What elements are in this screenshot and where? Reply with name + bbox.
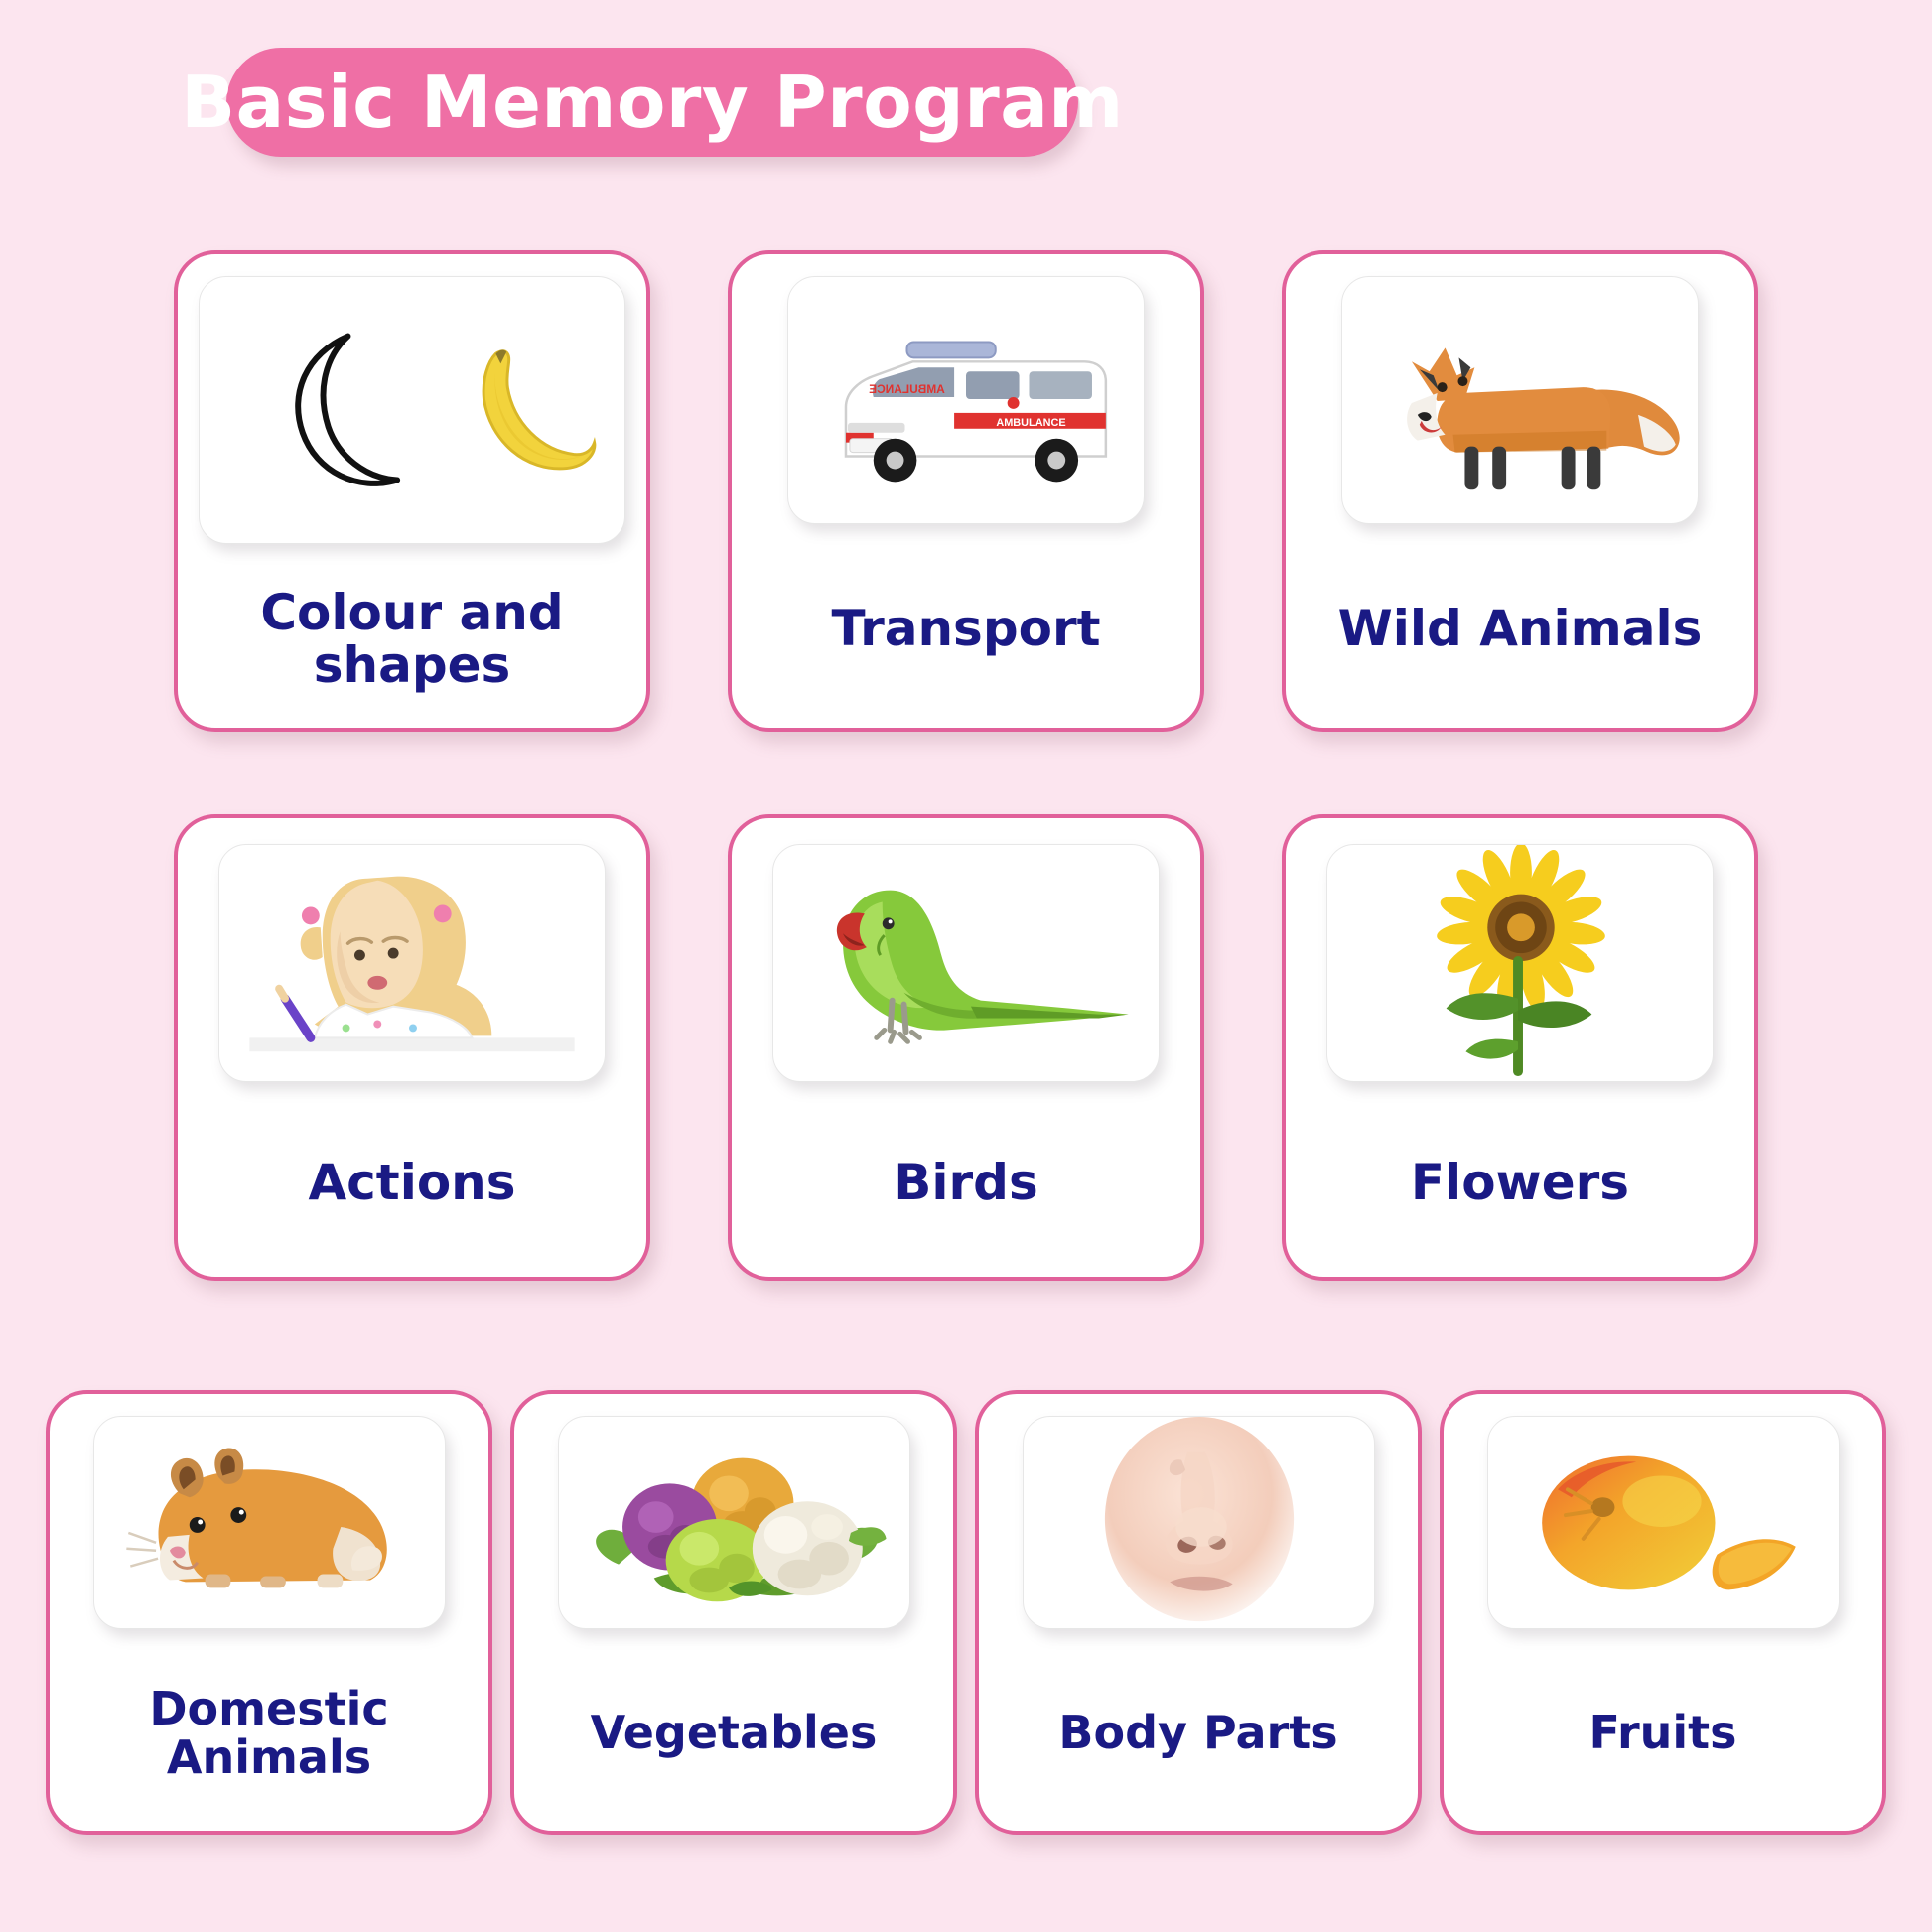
- cauliflower-icon: [559, 1417, 909, 1628]
- card-row-3: Domestic Animals: [0, 1390, 1932, 1835]
- card-label: Vegetables: [577, 1699, 892, 1761]
- thumbnail-colour-and-shapes: [199, 276, 625, 544]
- ambulance-icon: AMBULANCE AMBULANCE: [788, 277, 1144, 523]
- category-card-actions[interactable]: Actions: [174, 814, 650, 1281]
- thumbnail-birds: [772, 844, 1160, 1082]
- child-writing-icon: [219, 845, 605, 1081]
- page-title: Basic Memory Program: [181, 67, 1124, 138]
- svg-text:AMBULANCE: AMBULANCE: [869, 382, 945, 396]
- nose-icon: [1024, 1417, 1374, 1628]
- category-card-transport[interactable]: AMBULANCE AMBULANCE Transport: [728, 250, 1204, 732]
- parrot-icon: [773, 845, 1159, 1081]
- mango-icon: [1488, 1417, 1839, 1628]
- crescent-moon-and-banana-icon: [200, 277, 624, 543]
- card-label: Actions: [294, 1147, 529, 1213]
- thumbnail-flowers: [1326, 844, 1714, 1082]
- category-card-flowers[interactable]: Flowers: [1282, 814, 1758, 1281]
- thumbnail-actions: [218, 844, 606, 1082]
- hamster-icon: [94, 1417, 445, 1628]
- thumbnail-fruits: [1487, 1416, 1840, 1629]
- category-card-colour-and-shapes[interactable]: Colour and shapes: [174, 250, 650, 732]
- category-card-domestic-animals[interactable]: Domestic Animals: [46, 1390, 492, 1835]
- category-card-body-parts[interactable]: Body Parts: [975, 1390, 1422, 1835]
- title-banner: Basic Memory Program: [226, 48, 1078, 157]
- card-label: Domestic Animals: [50, 1675, 488, 1786]
- thumbnail-vegetables: [558, 1416, 910, 1629]
- svg-text:AMBULANCE: AMBULANCE: [996, 417, 1065, 429]
- category-card-vegetables[interactable]: Vegetables: [510, 1390, 957, 1835]
- card-label: Birds: [880, 1147, 1051, 1213]
- thumbnail-domestic-animals: [93, 1416, 446, 1629]
- card-label: Transport: [817, 593, 1114, 659]
- category-card-wild-animals[interactable]: Wild Animals: [1282, 250, 1758, 732]
- sunflower-icon: [1327, 845, 1713, 1081]
- fox-icon: [1342, 277, 1698, 523]
- thumbnail-wild-animals: [1341, 276, 1699, 524]
- thumbnail-transport: AMBULANCE AMBULANCE: [787, 276, 1145, 524]
- card-label: Flowers: [1397, 1147, 1643, 1213]
- category-card-fruits[interactable]: Fruits: [1440, 1390, 1886, 1835]
- category-card-birds[interactable]: Birds: [728, 814, 1204, 1281]
- card-label: Body Parts: [1044, 1699, 1351, 1761]
- card-label: Wild Animals: [1324, 593, 1717, 659]
- card-row-2: Actions Birds: [0, 814, 1932, 1281]
- header: Basic Memory Program: [0, 0, 1932, 199]
- thumbnail-body-parts: [1023, 1416, 1375, 1629]
- card-label: Colour and shapes: [178, 577, 646, 696]
- card-label: Fruits: [1575, 1699, 1750, 1761]
- card-row-1: Colour and shapes AMBULANCE AMBULANCE: [0, 250, 1932, 732]
